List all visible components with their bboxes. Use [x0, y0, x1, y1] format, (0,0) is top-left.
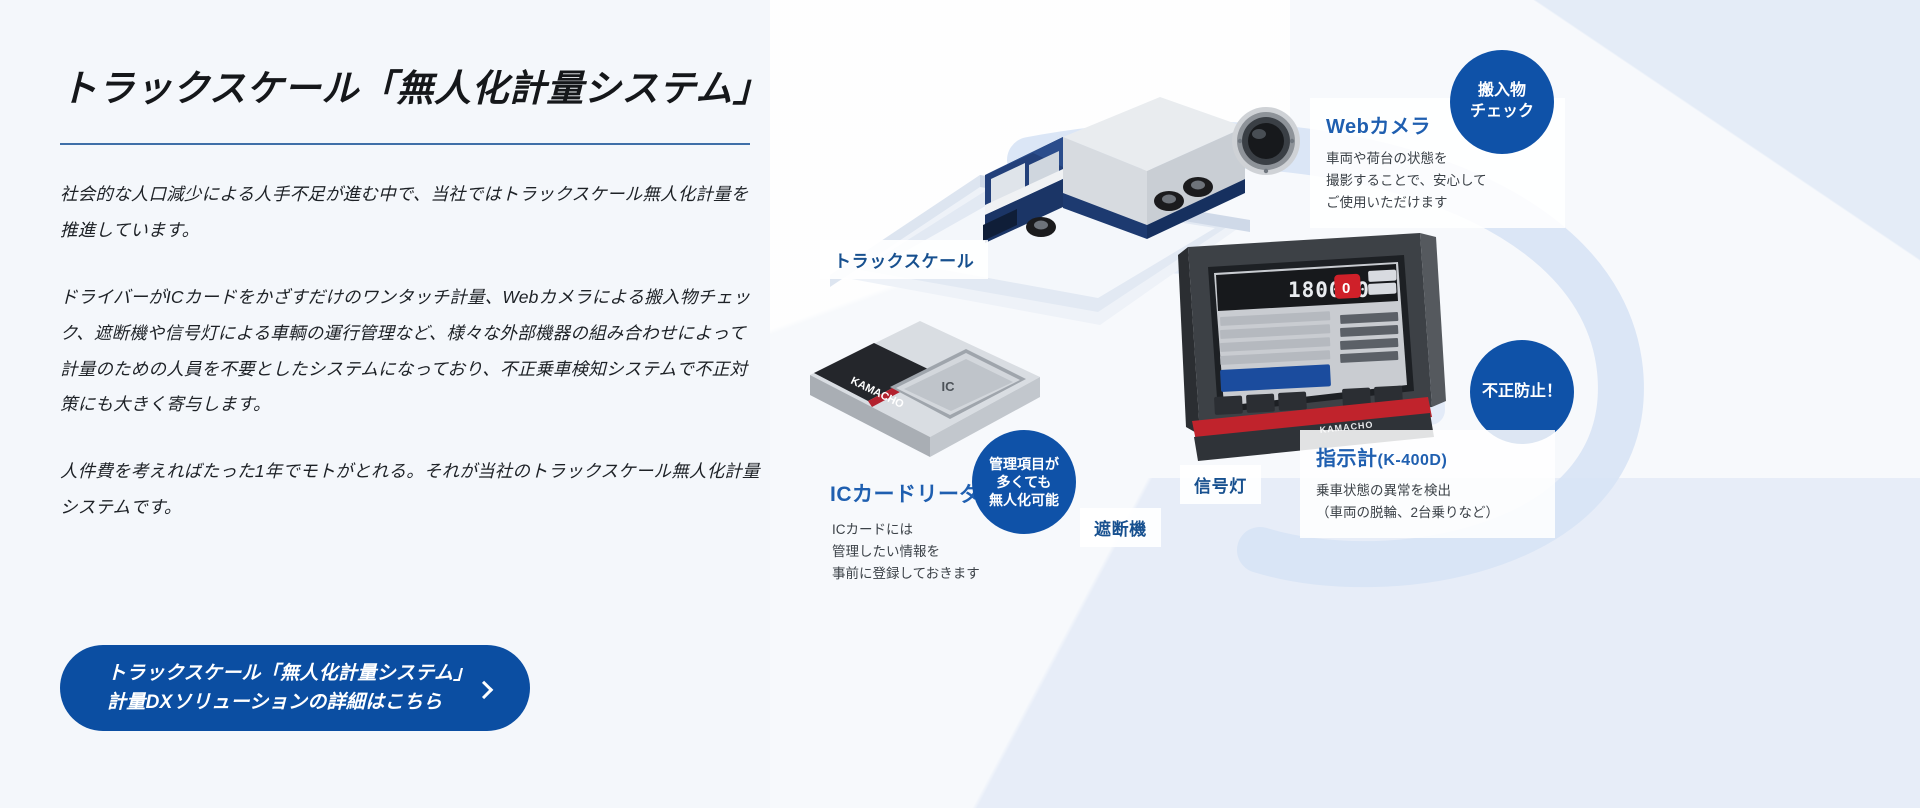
badge-unmanned-line2: 多くても: [997, 473, 1052, 491]
paragraph-2: ドライバーがICカードをかざすだけのワンタッチ計量、Webカメラによる搬入物チェ…: [60, 280, 760, 424]
truck-scale-chip: トラックスケール: [820, 240, 988, 279]
badge-fraud-prevention-line1: 不正防止！: [1482, 382, 1562, 403]
paragraph-1: 社会的な人口減少による人手不足が進む中で、当社ではトラックスケール無人化計量を推…: [60, 177, 760, 249]
indicator-card: 指示計(K-400D) 乗車状態の異常を検出 （車両の脱輪、2台乗りなど）: [1300, 430, 1555, 538]
left-content-column: トラックスケール「無人化計量システム」 社会的な人口減少による人手不足が進む中で…: [60, 0, 760, 808]
reader-face-text: IC: [942, 379, 956, 394]
indicator-title: 指示計: [1316, 448, 1378, 470]
indicator-title-row: 指示計(K-400D): [1316, 442, 1539, 471]
indicator-display-zero: 0: [1342, 280, 1350, 297]
body-copy: 社会的な人口減少による人手不足が進む中で、当社ではトラックスケール無人化計量を推…: [60, 177, 760, 526]
web-camera-description: 車両や荷台の状態を 撮影することで、安心して ご使用いただけます: [1326, 148, 1549, 214]
barrier-chip: 遮断機: [1080, 508, 1161, 547]
badge-unmanned-possible: 管理項目が 多くても 無人化可能: [972, 430, 1076, 534]
title-divider: [60, 143, 750, 145]
chevron-right-icon: [475, 681, 493, 699]
page-title: トラックスケール「無人化計量システム」: [60, 58, 760, 112]
ic-card-reader-description: ICカードには 管理したい情報を 事前に登録しておきます: [832, 519, 980, 585]
cta-label-line2: 計量DXソリューションの詳細はこちら: [107, 692, 442, 713]
cta-label: トラックスケール「無人化計量システム」 計量DXソリューションの詳細はこちら: [107, 659, 473, 718]
paragraph-3: 人件費を考えればたった1年でモトがとれる。それが当社のトラックスケール無人化計量…: [60, 454, 760, 526]
badge-delivery-check: 搬入物 チェック: [1450, 50, 1554, 154]
detail-cta-button[interactable]: トラックスケール「無人化計量システム」 計量DXソリューションの詳細はこちら: [60, 645, 530, 731]
badge-unmanned-line1: 管理項目が: [989, 455, 1059, 473]
cta-label-line1: トラックスケール「無人化計量システム」: [107, 663, 473, 684]
badge-delivery-check-line2: チェック: [1470, 102, 1534, 123]
system-diagram: トラックスケール Webカメラ 車両や荷台の状態を 撮影することで、安心して ご…: [770, 0, 1920, 808]
indicator-model: (K-400D): [1378, 452, 1448, 469]
indicator-description: 乗車状態の異常を検出 （車両の脱輪、2台乗りなど）: [1316, 480, 1539, 524]
web-camera-icon: [1230, 105, 1302, 177]
badge-fraud-prevention: 不正防止！: [1470, 340, 1574, 444]
badge-delivery-check-line1: 搬入物: [1478, 81, 1526, 102]
badge-unmanned-line3: 無人化可能: [989, 491, 1059, 509]
